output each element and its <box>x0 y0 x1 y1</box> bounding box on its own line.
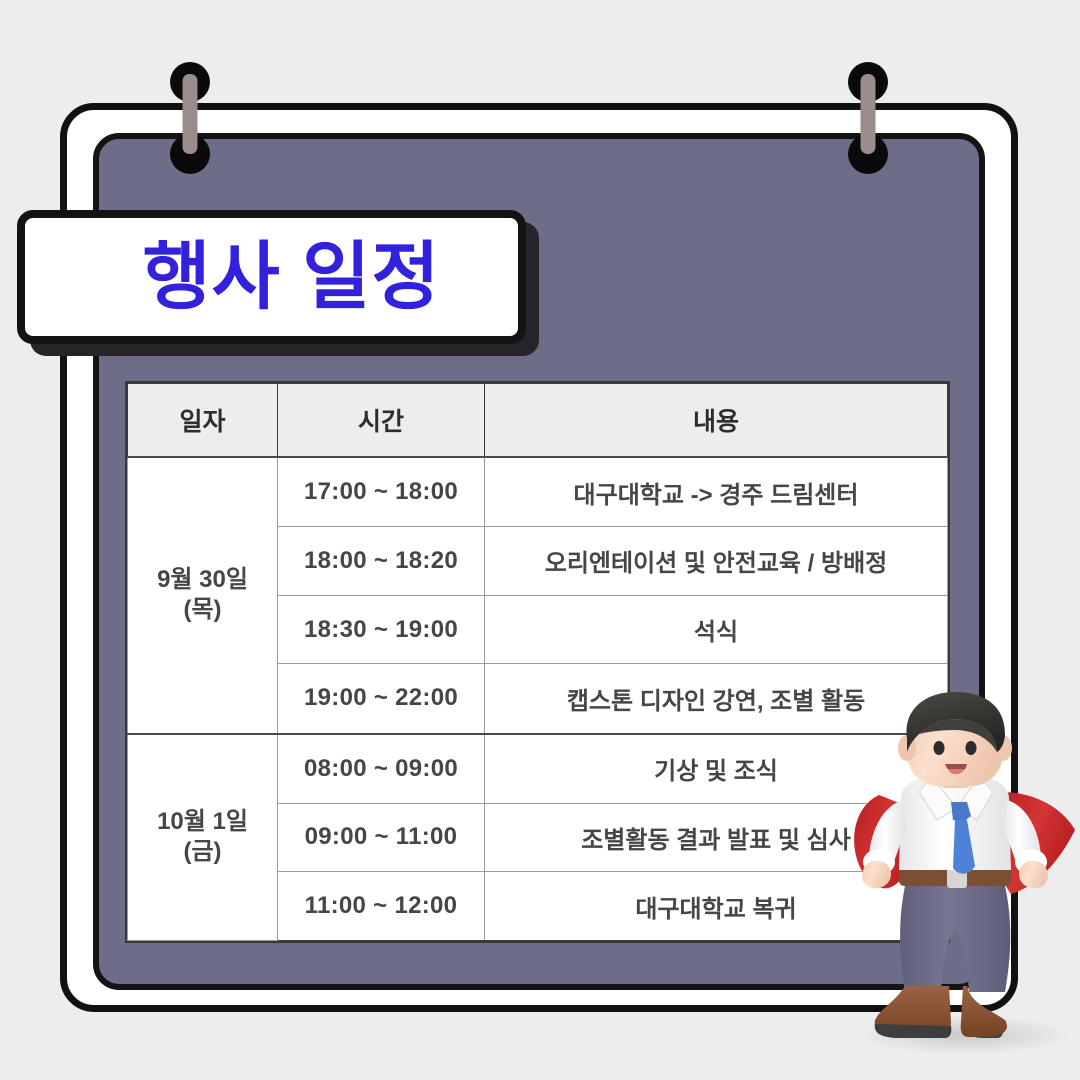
title-card: 행사 일정 <box>17 210 526 344</box>
column-header-time: 시간 <box>278 384 485 458</box>
mascot-superhero-businessman <box>845 690 1080 1065</box>
schedule-table-head: 일자 시간 내용 <box>128 384 948 458</box>
eye-right-icon <box>966 741 977 755</box>
time-cell: 19:00 ~ 22:00 <box>278 664 485 734</box>
schedule-table-body: 9월 30일 (목) 17:00 ~ 18:00 대구대학교 -> 경주 드림센… <box>128 457 948 941</box>
column-header-date: 일자 <box>128 384 278 458</box>
content-cell: 석식 <box>485 595 948 664</box>
table-row: 10월 1일 (금) 08:00 ~ 09:00 기상 및 조식 <box>128 734 948 804</box>
column-header-content: 내용 <box>485 384 948 458</box>
shoe-right-b-icon <box>961 986 1007 1037</box>
poster-canvas: 행사 일정 일자 시간 내용 9월 30일 <box>0 0 1080 1080</box>
shoe-left-icon <box>875 986 952 1038</box>
eye-left-icon <box>934 741 945 755</box>
pants <box>900 886 1010 992</box>
time-cell: 17:00 ~ 18:00 <box>278 457 485 527</box>
schedule-table: 일자 시간 내용 9월 30일 (목) 17:00 ~ 18:00 대구대학교 … <box>127 383 948 941</box>
page-title: 행사 일정 <box>103 240 441 314</box>
table-header-row: 일자 시간 내용 <box>128 384 948 458</box>
pin-right-icon <box>846 62 890 172</box>
content-cell: 오리엔테이션 및 안전교육 / 방배정 <box>485 527 948 596</box>
weekday-label: (금) <box>183 838 221 865</box>
date-label: 10월 1일 <box>157 808 248 835</box>
time-cell: 09:00 ~ 11:00 <box>278 803 485 872</box>
pin-right-stem-overlay <box>861 86 876 154</box>
time-cell: 08:00 ~ 09:00 <box>278 734 485 804</box>
time-cell: 18:30 ~ 19:00 <box>278 595 485 664</box>
date-cell-group-0: 9월 30일 (목) <box>128 457 278 734</box>
schedule-table-container: 일자 시간 내용 9월 30일 (목) 17:00 ~ 18:00 대구대학교 … <box>125 381 950 943</box>
weekday-label: (목) <box>183 596 221 623</box>
table-row: 9월 30일 (목) 17:00 ~ 18:00 대구대학교 -> 경주 드림센… <box>128 457 948 527</box>
time-cell: 11:00 ~ 12:00 <box>278 872 485 941</box>
pin-left-stem-overlay <box>183 86 198 154</box>
pin-left-icon <box>168 62 212 172</box>
time-cell: 18:00 ~ 18:20 <box>278 527 485 596</box>
content-cell: 대구대학교 -> 경주 드림센터 <box>485 457 948 527</box>
date-cell-group-1: 10월 1일 (금) <box>128 734 278 941</box>
date-label: 9월 30일 <box>157 566 248 593</box>
